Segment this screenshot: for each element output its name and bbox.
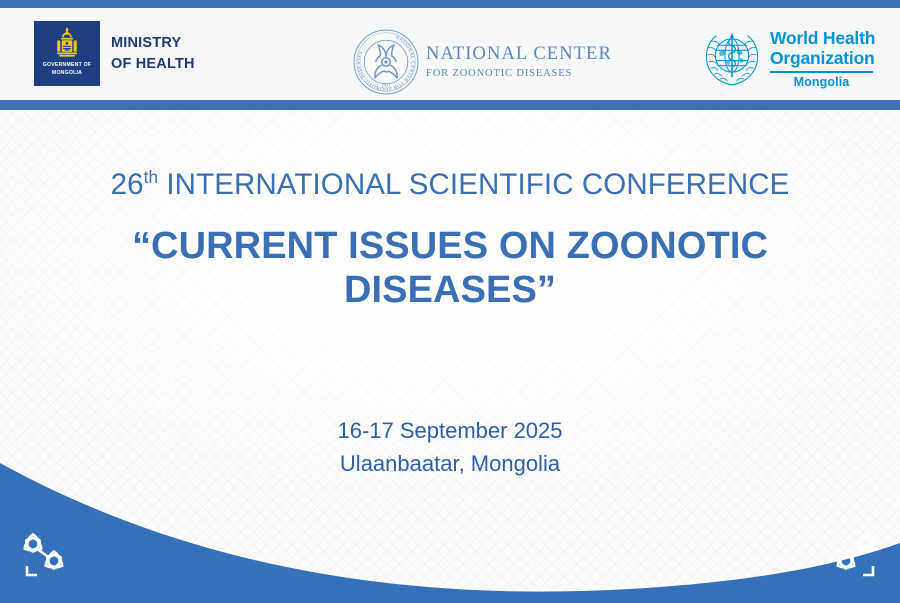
nczd-wordmark: NATIONAL CENTER FOR ZOONOTIC DISEASES — [426, 45, 612, 78]
mongolian-triquetra-knot-ornament-icon — [16, 527, 78, 585]
nczd-name-line2: FOR ZOONOTIC DISEASES — [426, 68, 612, 79]
ministry-label: MINISTRY OF HEALTH — [111, 33, 195, 74]
conference-heading-text: INTERNATIONAL SCIENTIFIC CONFERENCE — [166, 168, 789, 201]
mongolian-triquetra-knot-ornament-icon — [822, 527, 884, 585]
ministry-of-health-logo: GOVERNMENT OF MONGOLIA MINISTRY OF HEALT… — [34, 21, 195, 86]
header-bottom-accent-bar — [0, 100, 900, 110]
who-logo: World Health Organization Mongolia — [700, 26, 875, 90]
nczd-biohazard-seal-icon: NATIONAL CENTER FOR ZOONOTIC DISEASES 19… — [352, 28, 420, 96]
svg-text:1931: 1931 — [382, 82, 391, 87]
who-globe-laurel-asclepius-icon — [700, 26, 764, 90]
logo-row: GOVERNMENT OF MONGOLIA MINISTRY OF HEALT… — [0, 8, 900, 100]
footer-wave — [0, 423, 900, 603]
conference-ordinal-suffix: th — [144, 168, 158, 187]
nczd-logo: NATIONAL CENTER FOR ZOONOTIC DISEASES 19… — [352, 28, 612, 96]
crest-caption-line1: GOVERNMENT OF — [43, 62, 91, 68]
who-name-line1: World Health — [770, 29, 875, 49]
footer-wave-shape — [0, 423, 900, 603]
who-wordmark: World Health Organization Mongolia — [770, 29, 875, 89]
conference-theme-line1: “CURRENT ISSUES ON ZOONOTIC — [0, 224, 900, 268]
title-block: 26th INTERNATIONAL SCIENTIFIC CONFERENCE… — [0, 168, 900, 312]
conference-number: 26 — [111, 168, 144, 201]
who-name-line2: Organization — [770, 49, 875, 69]
mongolia-government-crest: GOVERNMENT OF MONGOLIA — [34, 21, 100, 86]
mongolia-soyombo-crest-icon — [49, 25, 85, 61]
ornament-left — [16, 527, 78, 585]
crest-caption: GOVERNMENT OF MONGOLIA — [43, 62, 91, 78]
crest-caption-line2: MONGOLIA — [52, 70, 82, 76]
top-accent-bar — [0, 0, 900, 8]
conference-title-slide: GOVERNMENT OF MONGOLIA MINISTRY OF HEALT… — [0, 0, 900, 603]
ministry-label-line2: OF HEALTH — [111, 54, 195, 75]
footer-wave-fill — [0, 463, 900, 603]
conference-heading: 26th INTERNATIONAL SCIENTIFIC CONFERENCE — [0, 168, 900, 202]
ornament-right — [822, 527, 884, 585]
nczd-name-line1: NATIONAL CENTER — [426, 45, 612, 64]
ministry-label-line1: MINISTRY — [111, 33, 195, 54]
conference-theme-line2: DISEASES” — [0, 268, 900, 312]
who-country-label: Mongolia — [770, 75, 873, 89]
conference-theme: “CURRENT ISSUES ON ZOONOTIC DISEASES” — [0, 224, 900, 312]
who-divider-rule — [770, 71, 873, 73]
